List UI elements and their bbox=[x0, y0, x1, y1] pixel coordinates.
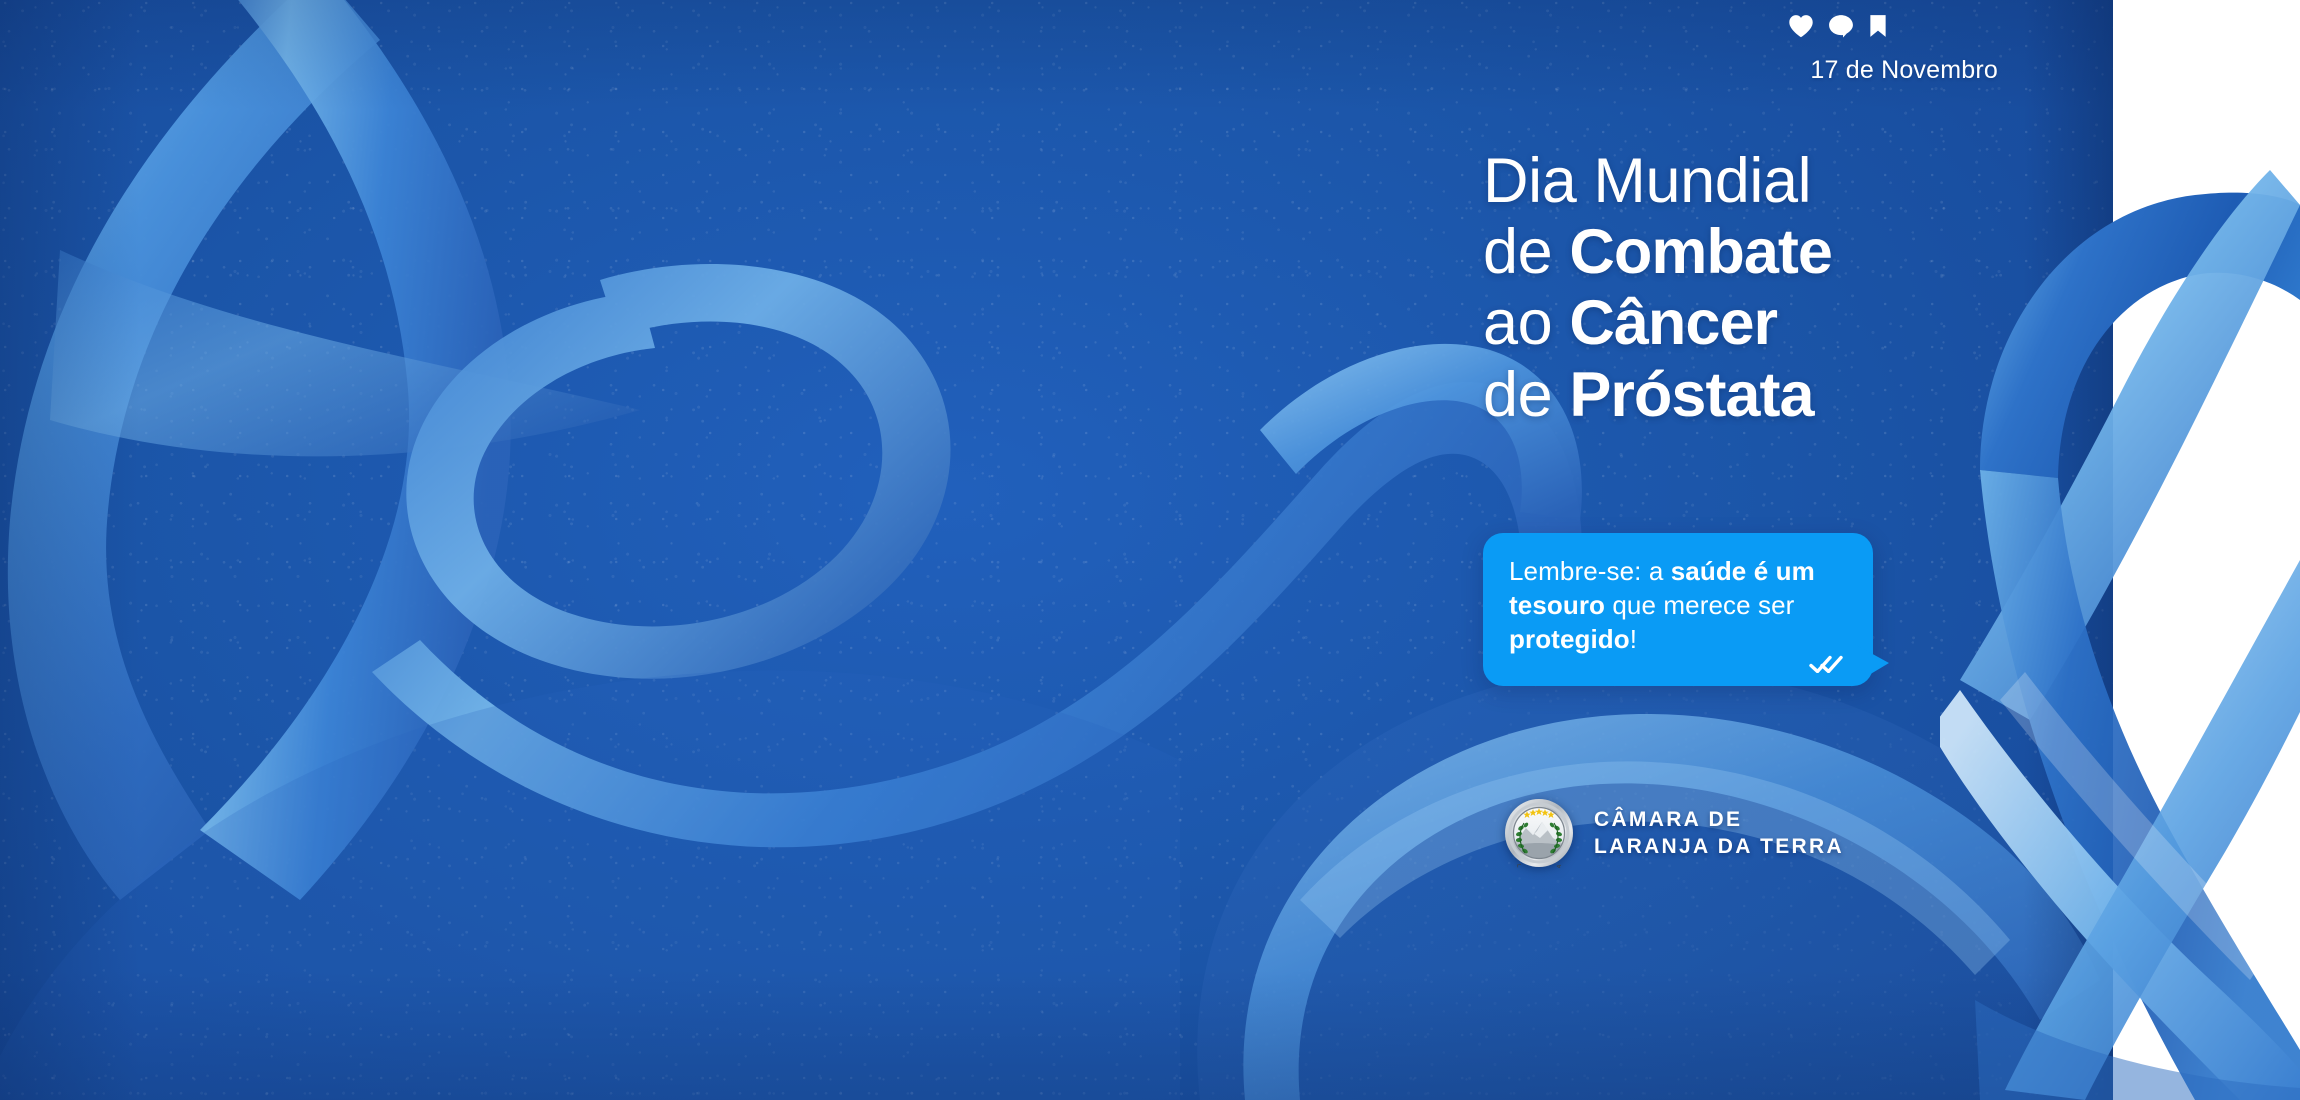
white-side-panel bbox=[2113, 0, 2300, 1100]
prostate-cancer-awareness-poster: 17 de Novembro Dia Mundial de Combate ao… bbox=[0, 0, 2300, 1100]
double-check-icon bbox=[1809, 655, 1847, 678]
brand-lockup: LARANJA DA TERRA CÂMARA DE LARANJA DA TE… bbox=[1504, 798, 1844, 868]
bubble-text-part-1: Lembre-se: a bbox=[1509, 556, 1671, 586]
comment-bubble-icon[interactable] bbox=[1828, 14, 1854, 38]
event-date: 17 de Novembro bbox=[1483, 56, 1998, 85]
headline-line-4-light: de bbox=[1483, 360, 1569, 430]
headline-line-3: ao Câncer bbox=[1483, 288, 2043, 359]
bubble-message-text: Lembre-se: a saúde é um tesouro que mere… bbox=[1509, 555, 1849, 656]
awareness-message-bubble: Lembre-se: a saúde é um tesouro que mere… bbox=[1483, 533, 1873, 686]
laranja-da-terra-coat-of-arms-icon: LARANJA DA TERRA bbox=[1504, 798, 1574, 868]
bubble-text-part-2: que merece ser bbox=[1605, 590, 1794, 620]
page-title: Dia Mundial de Combate ao Câncer de Prós… bbox=[1483, 146, 2043, 431]
bubble-text-part-3: ! bbox=[1630, 624, 1637, 654]
bubble-text-bold-saude: saúde bbox=[1671, 556, 1747, 586]
brand-name-line-2: LARANJA DA TERRA bbox=[1594, 833, 1844, 860]
headline-line-3-light: ao bbox=[1483, 288, 1569, 358]
headline-line-1-text: Dia Mundial bbox=[1483, 146, 1811, 216]
brand-name-line-1: CÂMARA DE bbox=[1594, 806, 1844, 833]
headline-line-4-bold: Próstata bbox=[1569, 360, 1813, 430]
social-action-icons bbox=[1788, 14, 1888, 38]
bookmark-icon[interactable] bbox=[1868, 14, 1888, 38]
bubble-tail bbox=[1855, 644, 1889, 674]
heart-icon[interactable] bbox=[1788, 14, 1814, 38]
headline-line-1: Dia Mundial bbox=[1483, 146, 2043, 217]
headline-line-2-bold: Combate bbox=[1569, 217, 1832, 287]
headline-line-2-light: de bbox=[1483, 217, 1569, 287]
headline-line-4: de Próstata bbox=[1483, 360, 2043, 431]
headline-line-3-bold: Câncer bbox=[1569, 288, 1777, 358]
bubble-text-bold-protegido: protegido bbox=[1509, 624, 1630, 654]
content-column: 17 de Novembro Dia Mundial de Combate ao… bbox=[1483, 0, 2043, 1100]
headline-line-2: de Combate bbox=[1483, 217, 2043, 288]
brand-name: CÂMARA DE LARANJA DA TERRA bbox=[1594, 806, 1844, 861]
bubble-body: Lembre-se: a saúde é um tesouro que mere… bbox=[1483, 533, 1873, 686]
